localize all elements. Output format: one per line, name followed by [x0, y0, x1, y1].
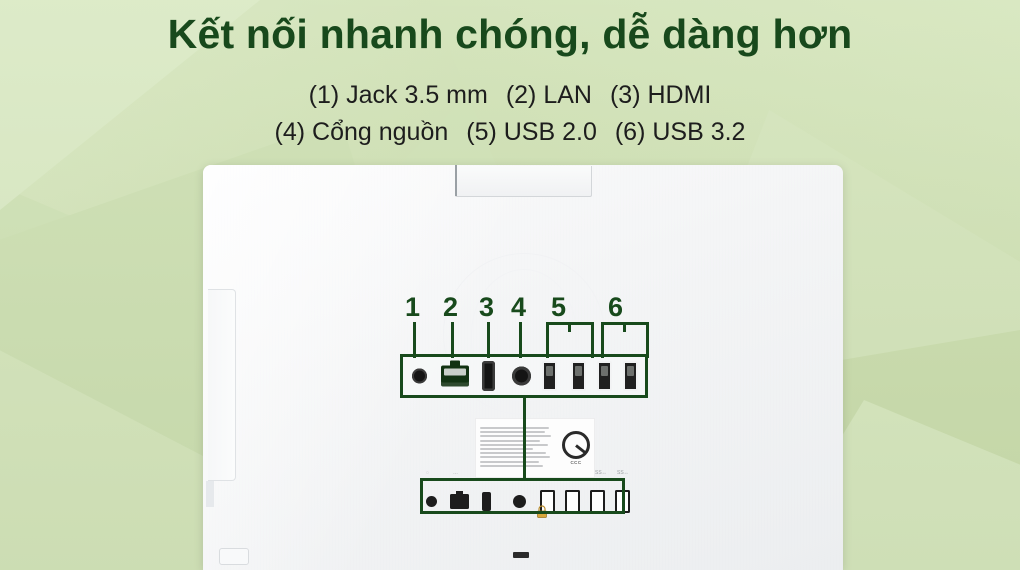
callout-bracket-5-stem	[568, 322, 571, 332]
legend-item-1: (1) Jack 3.5 mm	[309, 81, 488, 109]
callout-leader-1	[413, 322, 416, 358]
magnified-port-panel	[400, 354, 648, 398]
legend-line-2: (4) Cổng nguồn(5) USB 2.0(6) USB 3.2	[0, 117, 1020, 148]
callout-number-4: 4	[511, 294, 526, 321]
callout-bracket-5-leg-left	[546, 322, 549, 358]
magnifier-connector-line	[523, 398, 526, 478]
mag-usb-port-icon	[571, 361, 586, 391]
legend-item-5: (5) USB 2.0	[466, 118, 597, 146]
mag-audio-jack-port-icon	[412, 369, 427, 384]
mag-power-port-icon	[512, 367, 531, 386]
port-tick: SS↔	[595, 470, 607, 476]
legend-item-2: (2) LAN	[506, 81, 592, 109]
callout-number-6: 6	[608, 294, 623, 321]
laptop-hinge-edge	[455, 165, 457, 196]
ccc-certification-icon: CCC	[558, 419, 594, 477]
regulatory-label: CCC	[475, 418, 595, 478]
callout-bracket-6-stem	[623, 322, 626, 332]
port-tick: ◌	[426, 470, 429, 476]
port-tick: SS↔	[617, 470, 629, 476]
mag-lan-port-icon	[441, 366, 469, 387]
page-title: Kết nối nhanh chóng, dễ dàng hơn	[0, 12, 1020, 58]
port-tick: …	[453, 470, 458, 476]
callout-number-1: 1	[405, 294, 420, 321]
laptop-bottom-port	[513, 552, 529, 558]
laptop-foot-strip	[208, 289, 236, 481]
callout-number-3: 3	[479, 294, 494, 321]
callout-bracket-5-leg-right	[591, 322, 594, 358]
callout-leader-3	[487, 322, 490, 358]
laptop-bottom-label	[219, 548, 249, 565]
legend-line-1: (1) Jack 3.5 mm(2) LAN(3) HDMI	[0, 80, 1020, 111]
callout-bracket-6-leg-right	[646, 322, 649, 358]
port-highlight-box	[420, 478, 625, 514]
mag-hdmi-port-icon	[482, 361, 495, 391]
laptop-hinge-vent	[455, 166, 592, 197]
mag-usb-port-icon	[597, 361, 612, 391]
regulatory-label-text	[476, 424, 558, 472]
legend-item-6: (6) USB 3.2	[615, 118, 746, 146]
legend-item-3: (3) HDMI	[610, 81, 711, 109]
legend-item-4: (4) Cổng nguồn	[275, 118, 449, 146]
callout-bracket-6-leg-left	[601, 322, 604, 358]
callout-number-2: 2	[443, 294, 458, 321]
callout-leader-4	[519, 322, 522, 358]
laptop-foot-nub	[206, 481, 214, 507]
mag-usb-port-icon	[623, 361, 638, 391]
callout-leader-2	[451, 322, 454, 358]
mag-usb-port-icon	[542, 361, 557, 391]
poster-stage: Kết nối nhanh chóng, dễ dàng hơn (1) Jac…	[0, 0, 1020, 570]
callout-number-5: 5	[551, 294, 566, 321]
